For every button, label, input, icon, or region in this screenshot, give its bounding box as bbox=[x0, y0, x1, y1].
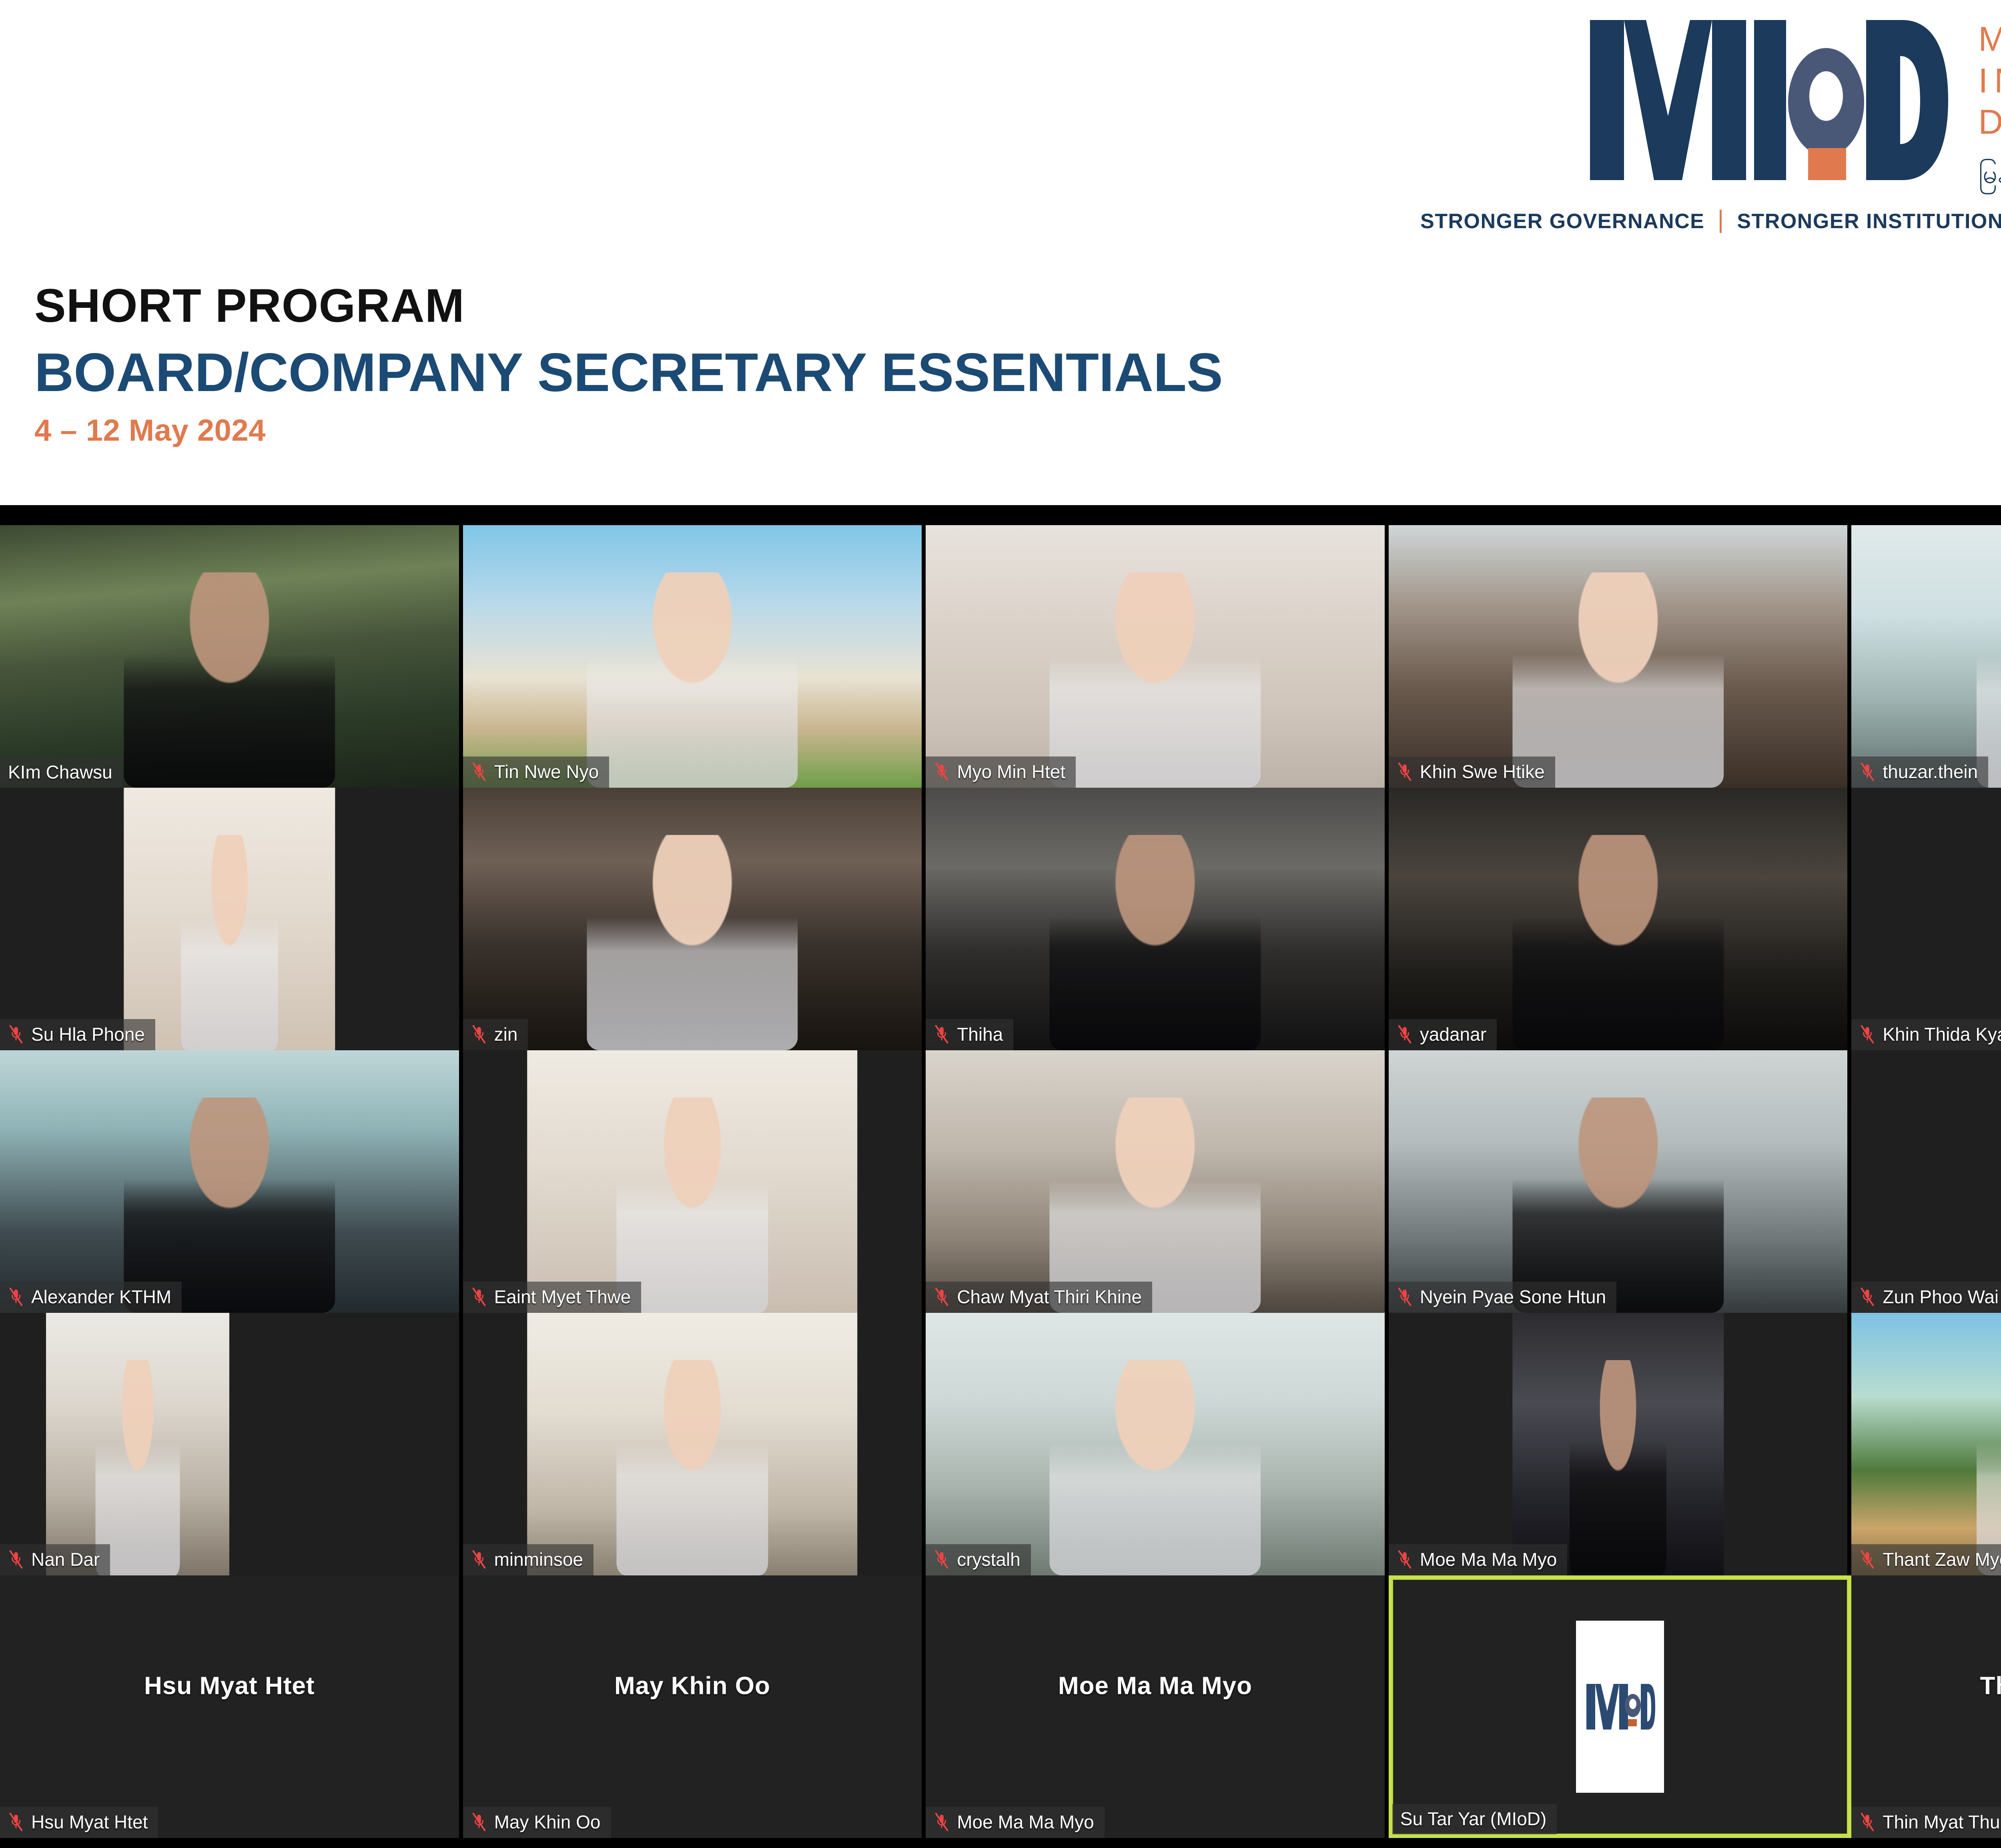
participant-name-label: thuzar.thein bbox=[1883, 762, 1978, 781]
participant-tile[interactable]: minminsoe bbox=[463, 1313, 926, 1575]
page-title: BOARD/COMPANY SECRETARY ESSENTIALS bbox=[34, 341, 1223, 403]
participant-nameplate: Zun Phoo Wai bbox=[1851, 1282, 2001, 1313]
avatar bbox=[1576, 1621, 1664, 1793]
participant-nameplate: KIm Chawsu bbox=[0, 757, 123, 788]
participant-tile[interactable]: Khin Thida Kyaw Khaing bbox=[1851, 788, 2001, 1050]
participant-video-feed bbox=[463, 525, 922, 788]
microphone-muted-icon bbox=[1397, 762, 1413, 781]
participant-tile[interactable]: Moe Ma Ma Myo bbox=[1389, 1313, 1852, 1575]
participant-name-label: Zun Phoo Wai bbox=[1883, 1288, 1999, 1306]
participant-video-feed bbox=[926, 1313, 1385, 1575]
logo-name-line-2: INSTITUTE OF bbox=[1978, 65, 2001, 98]
participant-grid: KIm Chawsu Tin Nwe Nyo Myo Min Htet Khin… bbox=[0, 525, 2001, 1831]
participant-tile[interactable]: Myo Min Htet bbox=[926, 525, 1389, 788]
participant-nameplate: Su Hla Phone bbox=[0, 1019, 155, 1050]
participant-name-label: Chaw Myat Thiri Khine bbox=[957, 1288, 1142, 1306]
participant-name-label: Hsu Myat Htet bbox=[31, 1813, 148, 1831]
participant-tile[interactable]: Zun Phoo Wai bbox=[1851, 1050, 2001, 1313]
participant-figure bbox=[1570, 1360, 1667, 1575]
microphone-muted-icon bbox=[1859, 1812, 1875, 1832]
participant-nameplate: Hsu Myat Htet bbox=[0, 1807, 158, 1838]
participant-figure bbox=[1512, 572, 1723, 788]
logo-myanmar-script: မြန်မာဒါရိုက်တာများအင်စတီကျူ bbox=[1978, 158, 2001, 196]
participant-name-label: Nyein Pyae Sone Htun bbox=[1420, 1288, 1606, 1306]
microphone-muted-icon bbox=[471, 1287, 487, 1306]
participant-nameplate: Khin Swe Htike bbox=[1389, 756, 1555, 788]
participant-nameplate: Nan Dar bbox=[0, 1544, 110, 1575]
participant-name-label: Thin Myat Thu, MIoD bbox=[1883, 1813, 2001, 1831]
microphone-muted-icon bbox=[934, 1550, 950, 1569]
participant-name-label: Moe Ma Ma Myo bbox=[957, 1813, 1094, 1831]
microphone-muted-icon bbox=[1859, 1025, 1875, 1044]
participant-figure bbox=[587, 572, 798, 788]
program-dates: 4 – 12 May 2024 bbox=[34, 413, 1223, 448]
participant-nameplate: May Khin Oo bbox=[463, 1807, 611, 1838]
participant-name-label: May Khin Oo bbox=[494, 1813, 601, 1831]
participant-figure bbox=[1050, 835, 1261, 1050]
participant-nameplate: Thiha bbox=[926, 1019, 1013, 1050]
microphone-muted-icon bbox=[934, 1287, 950, 1306]
program-kicker: SHORT PROGRAM bbox=[34, 280, 1223, 332]
participant-figure bbox=[95, 1360, 180, 1575]
participant-figure bbox=[124, 572, 335, 788]
logo-name-line-1: MYANMAR bbox=[1978, 23, 2001, 56]
participant-nameplate: minminsoe bbox=[463, 1544, 593, 1575]
participant-video-feed bbox=[1851, 525, 2001, 788]
participant-name-label: Myo Min Htet bbox=[957, 762, 1065, 781]
participant-nameplate: Su Tar Yar (MIoD) bbox=[1392, 1804, 1557, 1834]
participant-nameplate: Chaw Myat Thiri Khine bbox=[926, 1282, 1152, 1313]
participant-tile[interactable]: Su Hla Phone bbox=[0, 788, 463, 1050]
program-titles: SHORT PROGRAM BOARD/COMPANY SECRETARY ES… bbox=[34, 280, 1223, 448]
participant-video-feed bbox=[463, 788, 922, 1050]
participant-name-label: crystalh bbox=[957, 1550, 1020, 1569]
participant-video-feed bbox=[1851, 1313, 2001, 1575]
microphone-muted-icon bbox=[471, 1025, 487, 1044]
participant-nameplate: Khin Thida Kyaw Khaing bbox=[1851, 1019, 2001, 1050]
participant-nameplate: Nyein Pyae Sone Htun bbox=[1389, 1282, 1616, 1313]
microphone-muted-icon bbox=[934, 1025, 950, 1044]
participant-video-feed bbox=[46, 1313, 230, 1575]
participant-video-feed bbox=[1389, 1050, 1848, 1313]
microphone-muted-icon bbox=[8, 1550, 24, 1569]
participant-figure bbox=[1977, 572, 2001, 788]
participant-video-feed bbox=[527, 1050, 858, 1313]
participant-tile[interactable]: Khin Swe Htike bbox=[1389, 525, 1852, 788]
participant-name-label: Moe Ma Ma Myo bbox=[1420, 1550, 1557, 1569]
participant-nameplate: thuzar.thein bbox=[1851, 756, 1988, 788]
microphone-muted-icon bbox=[934, 1812, 950, 1832]
participant-tile[interactable]: Eaint Myet Thwe bbox=[463, 1050, 926, 1313]
participant-row: Alexander KTHM Eaint Myet Thwe Chaw Myat… bbox=[0, 1050, 2001, 1313]
tagline-institutions: STRONGER INSTITUTIONS bbox=[1722, 209, 2001, 233]
participant-tile[interactable]: Chaw Myat Thiri Khine bbox=[926, 1050, 1389, 1313]
participant-figure bbox=[616, 1098, 768, 1313]
participant-name-label: Eaint Myet Thwe bbox=[494, 1288, 631, 1306]
participant-nameplate: zin bbox=[463, 1019, 528, 1050]
participant-figure bbox=[1512, 1098, 1723, 1313]
participant-name-label: Thant Zaw Myo bbox=[1883, 1550, 2001, 1569]
miod-logo: MYANMAR INSTITUTE OF DIRECTORS မြန်မာဒါရ… bbox=[1420, 16, 2001, 233]
participant-tile[interactable]: yadanar bbox=[1389, 788, 1852, 1050]
logo-tagline: STRONGER GOVERNANCE STRONGER INSTITUTION… bbox=[1420, 209, 2001, 233]
microphone-muted-icon bbox=[1859, 762, 1875, 781]
participant-row: Su Hla Phone zin Thiha yadanar Khin Thid… bbox=[0, 788, 2001, 1050]
participant-display-name: Moe Ma Ma Myo bbox=[926, 1671, 1385, 1700]
participant-tile[interactable]: Tin Nwe Nyo bbox=[463, 525, 926, 788]
participant-tile[interactable]: KIm Chawsu bbox=[0, 525, 463, 788]
participant-tile[interactable]: Su Tar Yar (MIoD) bbox=[1389, 1575, 1852, 1838]
participant-tile[interactable]: May Khin Oo May Khin Oo bbox=[463, 1575, 926, 1838]
participant-row: KIm Chawsu Tin Nwe Nyo Myo Min Htet Khin… bbox=[0, 525, 2001, 788]
participant-name-label: Tin Nwe Nyo bbox=[494, 762, 599, 781]
microphone-muted-icon bbox=[8, 1287, 24, 1306]
tagline-governance: STRONGER GOVERNANCE bbox=[1420, 209, 1720, 233]
microphone-muted-icon bbox=[471, 762, 487, 781]
participant-row: Nan Dar minminsoe crystalh Moe Ma Ma Myo… bbox=[0, 1313, 2001, 1575]
participant-tile[interactable]: thuzar.thein bbox=[1851, 525, 2001, 788]
participant-tile[interactable]: Nan Dar bbox=[0, 1313, 463, 1575]
microphone-muted-icon bbox=[1397, 1287, 1413, 1306]
participant-figure bbox=[1050, 572, 1261, 788]
participant-display-name: Thin Myat Thu,… bbox=[1851, 1671, 2001, 1700]
microphone-muted-icon bbox=[1397, 1550, 1413, 1569]
participant-name-label: Thiha bbox=[957, 1025, 1003, 1043]
participant-display-name: May Khin Oo bbox=[463, 1671, 922, 1700]
zoom-gallery: KIm Chawsu Tin Nwe Nyo Myo Min Htet Khin… bbox=[0, 505, 2001, 1848]
participant-nameplate: Thant Zaw Myo bbox=[1851, 1544, 2001, 1575]
participant-name-label: KIm Chawsu bbox=[8, 763, 112, 781]
participant-video-feed bbox=[1389, 525, 1848, 788]
participant-name-label: Khin Thida Kyaw Khaing bbox=[1883, 1025, 2001, 1043]
participant-name-label: Khin Swe Htike bbox=[1420, 762, 1545, 781]
participant-name-label: Su Hla Phone bbox=[31, 1025, 145, 1043]
microphone-muted-icon bbox=[1397, 1025, 1413, 1044]
microphone-muted-icon bbox=[1859, 1550, 1875, 1569]
participant-tile[interactable]: Nyein Pyae Sone Htun bbox=[1389, 1050, 1852, 1313]
participant-figure bbox=[181, 835, 278, 1050]
participant-name-label: yadanar bbox=[1420, 1025, 1486, 1043]
microphone-muted-icon bbox=[8, 1025, 24, 1044]
participant-figure bbox=[587, 835, 798, 1050]
participant-video-feed bbox=[0, 525, 459, 788]
participant-tile[interactable]: Hsu Myat Htet Hsu Myat Htet bbox=[0, 1575, 463, 1838]
microphone-muted-icon bbox=[934, 762, 950, 781]
participant-figure bbox=[1050, 1098, 1261, 1313]
participant-display-name: Hsu Myat Htet bbox=[0, 1671, 459, 1700]
participant-video-feed bbox=[527, 1313, 858, 1575]
participant-nameplate: crystalh bbox=[926, 1544, 1031, 1575]
participant-nameplate: Thin Myat Thu, MIoD bbox=[1851, 1807, 2001, 1838]
participant-figure bbox=[616, 1360, 768, 1575]
participant-tile[interactable]: crystalh bbox=[926, 1313, 1389, 1575]
miod-logo-mark bbox=[1586, 16, 1954, 184]
microphone-muted-icon bbox=[8, 1812, 24, 1832]
participant-tile[interactable]: Moe Ma Ma Myo Moe Ma Ma Myo bbox=[926, 1575, 1389, 1838]
microphone-muted-icon bbox=[471, 1812, 487, 1832]
participant-row: Hsu Myat Htet Hsu Myat HtetMay Khin Oo M… bbox=[0, 1575, 2001, 1838]
logo-name-line-3: DIRECTORS bbox=[1978, 106, 2001, 139]
participant-figure bbox=[124, 1098, 335, 1313]
participant-nameplate: Eaint Myet Thwe bbox=[463, 1282, 642, 1313]
participant-tile[interactable]: Thant Zaw Myo bbox=[1851, 1313, 2001, 1575]
participant-nameplate: yadanar bbox=[1389, 1019, 1497, 1050]
slide-header: MYANMAR INSTITUTE OF DIRECTORS မြန်မာဒါရ… bbox=[0, 0, 2001, 505]
participant-video-feed bbox=[1512, 1313, 1723, 1575]
participant-tile[interactable]: Thiha bbox=[926, 788, 1389, 1050]
participant-tile[interactable]: Thin Myat Thu,… Thin Myat Thu, MIoD bbox=[1851, 1575, 2001, 1838]
participant-video-feed bbox=[0, 1050, 459, 1313]
participant-video-feed bbox=[926, 525, 1385, 788]
participant-video-feed bbox=[926, 1050, 1385, 1313]
participant-video-feed bbox=[926, 788, 1385, 1050]
participant-figure bbox=[1977, 1360, 2001, 1575]
participant-name-label: minminsoe bbox=[494, 1550, 583, 1569]
participant-name-label: Alexander KTHM bbox=[31, 1288, 171, 1306]
participant-figure bbox=[1050, 1360, 1261, 1575]
participant-figure bbox=[1512, 835, 1723, 1050]
participant-tile[interactable]: Alexander KTHM bbox=[0, 1050, 463, 1313]
participant-nameplate: Moe Ma Ma Myo bbox=[1389, 1544, 1568, 1575]
participant-name-label: zin bbox=[494, 1025, 518, 1043]
participant-video-feed bbox=[1389, 788, 1848, 1050]
microphone-muted-icon bbox=[471, 1550, 487, 1569]
participant-nameplate: Alexander KTHM bbox=[0, 1282, 182, 1313]
participant-name-label: Su Tar Yar (MIoD) bbox=[1400, 1810, 1547, 1828]
participant-nameplate: Myo Min Htet bbox=[926, 756, 1076, 788]
participant-nameplate: Tin Nwe Nyo bbox=[463, 756, 610, 788]
microphone-muted-icon bbox=[1859, 1287, 1875, 1306]
participant-video-feed bbox=[124, 788, 335, 1050]
participant-name-label: Nan Dar bbox=[31, 1550, 100, 1569]
participant-nameplate: Moe Ma Ma Myo bbox=[926, 1807, 1105, 1838]
participant-tile[interactable]: zin bbox=[463, 788, 926, 1050]
